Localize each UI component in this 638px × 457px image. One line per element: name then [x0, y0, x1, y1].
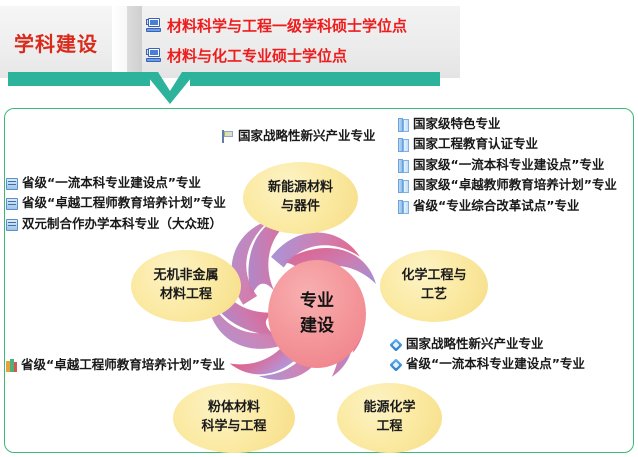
lobe-label-line1: 能源化学: [363, 399, 415, 418]
lobe-label-line1: 化学工程与: [401, 267, 466, 286]
annotation-text: 国家战略性新兴产业专业: [406, 337, 544, 351]
header-degree-list: 材料科学与工程一级学科硕士学位点 材料与化工专业硕士学位点: [146, 10, 446, 70]
header-list-item-label: 材料科学与工程一级学科硕士学位点: [167, 15, 407, 36]
book-icon: [398, 179, 409, 193]
annotation-text: 双元制合作办学本科专业（大众班）: [22, 217, 222, 231]
annotation-group-left-top: 省级“一流本科专业建设点”专业 省级“卓越工程师教育培养计划”专业 双元制合作办…: [6, 176, 226, 237]
book-icon: [398, 159, 409, 173]
book-icon: [398, 200, 409, 214]
annotation-item: 省级“卓越工程师教育培养计划”专业: [6, 358, 225, 372]
annotation-item: 国家级特色专业: [398, 117, 617, 131]
header-list-item: 材料科学与工程一级学科硕士学位点: [146, 10, 446, 40]
lobe-new-energy-materials[interactable]: 新能源材料 与器件: [243, 162, 358, 234]
lobe-powder-materials[interactable]: 粉体材料 科学与工程: [173, 383, 295, 453]
annotation-text: 省级“卓越工程师教育培养计划”专业: [21, 358, 225, 372]
lobe-energy-chemistry[interactable]: 能源化学 工程: [337, 383, 442, 453]
lobe-label-line2: 材料工程: [160, 286, 212, 305]
diagram-page: 学科建设 材料科学与工程一级学科硕士学位点 材料与化工专业硕士学位点: [0, 0, 638, 457]
header-list-item: 材料与化工专业硕士学位点: [146, 40, 446, 70]
annotation-item: 国家级“一流本科专业建设点”专业: [398, 158, 617, 172]
annotation-item: 省级“一流本科专业建设点”专业: [390, 357, 585, 371]
header-title-box: 学科建设: [0, 6, 112, 78]
annotation-group-right-top: 国家级特色专业 国家工程教育认证专业 国家级“一流本科专业建设点”专业 国家级“…: [398, 117, 617, 219]
lobe-label-line2: 科学与工程: [201, 418, 266, 437]
annotation-text: 国家战略性新兴产业专业: [238, 129, 376, 143]
annotation-item: 国家工程教育认证专业: [398, 137, 617, 151]
annotation-text: 省级“专业综合改革试点”专业: [413, 199, 579, 213]
book-icon: [398, 138, 409, 152]
annotation-text: 国家级特色专业: [413, 117, 501, 131]
lobe-label-line2: 工艺: [421, 286, 447, 305]
annotation-text: 省级“一流本科专业建设点”专业: [406, 357, 585, 371]
lobe-label-line1: 新能源材料: [268, 179, 333, 198]
down-chevron-icon: [144, 72, 196, 104]
lobe-label-line1: 无机非金属: [153, 267, 218, 286]
annotation-item: 省级“一流本科专业建设点”专业: [6, 176, 226, 190]
annotation-text: 省级“一流本科专业建设点”专业: [22, 176, 201, 190]
header: 学科建设 材料科学与工程一级学科硕士学位点 材料与化工专业硕士学位点: [0, 0, 638, 100]
lobe-label-line1: 粉体材料: [208, 399, 260, 418]
pencil-icon: [6, 359, 17, 372]
green-divider-band: [8, 72, 440, 86]
annotation-item: 省级“卓越工程师教育培养计划”专业: [6, 196, 226, 210]
annotation-item: 双元制合作办学本科专业（大众班）: [6, 217, 226, 231]
flag-icon: [222, 130, 234, 143]
document-icon: [6, 178, 18, 190]
annotation-text: 国家级“卓越教师教育培养计划”专业: [413, 178, 617, 192]
lobe-inorganic-materials[interactable]: 无机非金属 材料工程: [131, 250, 241, 322]
annotation-item: 国家战略性新兴产业专业: [222, 129, 376, 143]
annotation-item: 国家级“卓越教师教育培养计划”专业: [398, 178, 617, 192]
book-icon: [398, 118, 409, 132]
annotation-text: 国家工程教育认证专业: [413, 137, 538, 151]
lobe-label-line2: 工程: [376, 418, 402, 437]
cube-icon: [390, 339, 402, 351]
annotation-group-left-bottom: 省级“卓越工程师教育培养计划”专业: [6, 358, 225, 378]
document-icon: [6, 219, 18, 231]
cube-icon: [390, 359, 402, 371]
annotation-text: 国家级“一流本科专业建设点”专业: [413, 158, 604, 172]
monitor-icon: [146, 18, 161, 32]
header-list-item-label: 材料与化工专业硕士学位点: [167, 45, 347, 66]
annotation-item: 国家战略性新兴产业专业: [390, 337, 585, 351]
center-label-line2: 建设: [300, 314, 334, 340]
page-title: 学科建设: [14, 28, 98, 57]
annotation-text: 省级“卓越工程师教育培养计划”专业: [22, 196, 226, 210]
document-icon: [6, 198, 18, 210]
lobe-label-line2: 与器件: [281, 198, 320, 217]
lobe-chemical-engineering[interactable]: 化学工程与 工艺: [380, 250, 488, 322]
annotation-item: 省级“专业综合改革试点”专业: [398, 199, 617, 213]
annotation-group-right-bottom: 国家战略性新兴产业专业 省级“一流本科专业建设点”专业: [390, 337, 585, 378]
center-label-line1: 专业: [300, 289, 334, 315]
center-node-major-construction[interactable]: 专业 建设: [268, 260, 366, 368]
monitor-icon: [146, 48, 161, 62]
annotation-group-top-center: 国家战略性新兴产业专业: [222, 129, 376, 149]
